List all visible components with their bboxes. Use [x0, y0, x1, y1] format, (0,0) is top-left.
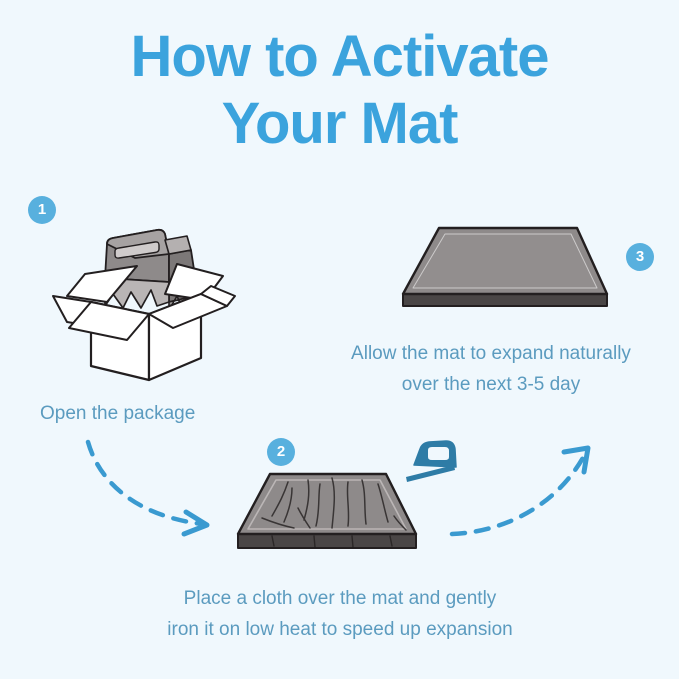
arrow-step1-to-step2 [82, 438, 227, 543]
step-3-caption-line-2: over the next 3-5 day [402, 374, 581, 395]
step-2-caption-line-1: Place a cloth over the mat and gently [184, 588, 497, 609]
wrinkled-mat-icon [232, 468, 422, 563]
page-title: How to Activate Your Mat [0, 28, 679, 153]
step-2-caption-line-2: iron it on low heat to speed up expansio… [167, 619, 512, 640]
title-line-2: Your Mat [0, 95, 679, 153]
title-line-1: How to Activate [0, 28, 679, 86]
step-1-caption: Open the package [40, 398, 195, 429]
flat-mat-icon [395, 220, 615, 325]
step-3-caption: Allow the mat to expand naturally over t… [315, 338, 667, 400]
arrow-step2-to-step3 [448, 438, 603, 543]
box-with-rolled-mat-icon [45, 218, 245, 378]
step-2-caption: Place a cloth over the mat and gently ir… [112, 583, 568, 645]
step-badge-3: 3 [626, 243, 654, 271]
infographic-root: How to Activate Your Mat 1 [0, 0, 679, 679]
step-badge-2: 2 [267, 438, 295, 466]
step-3-caption-line-1: Allow the mat to expand naturally [351, 343, 631, 364]
